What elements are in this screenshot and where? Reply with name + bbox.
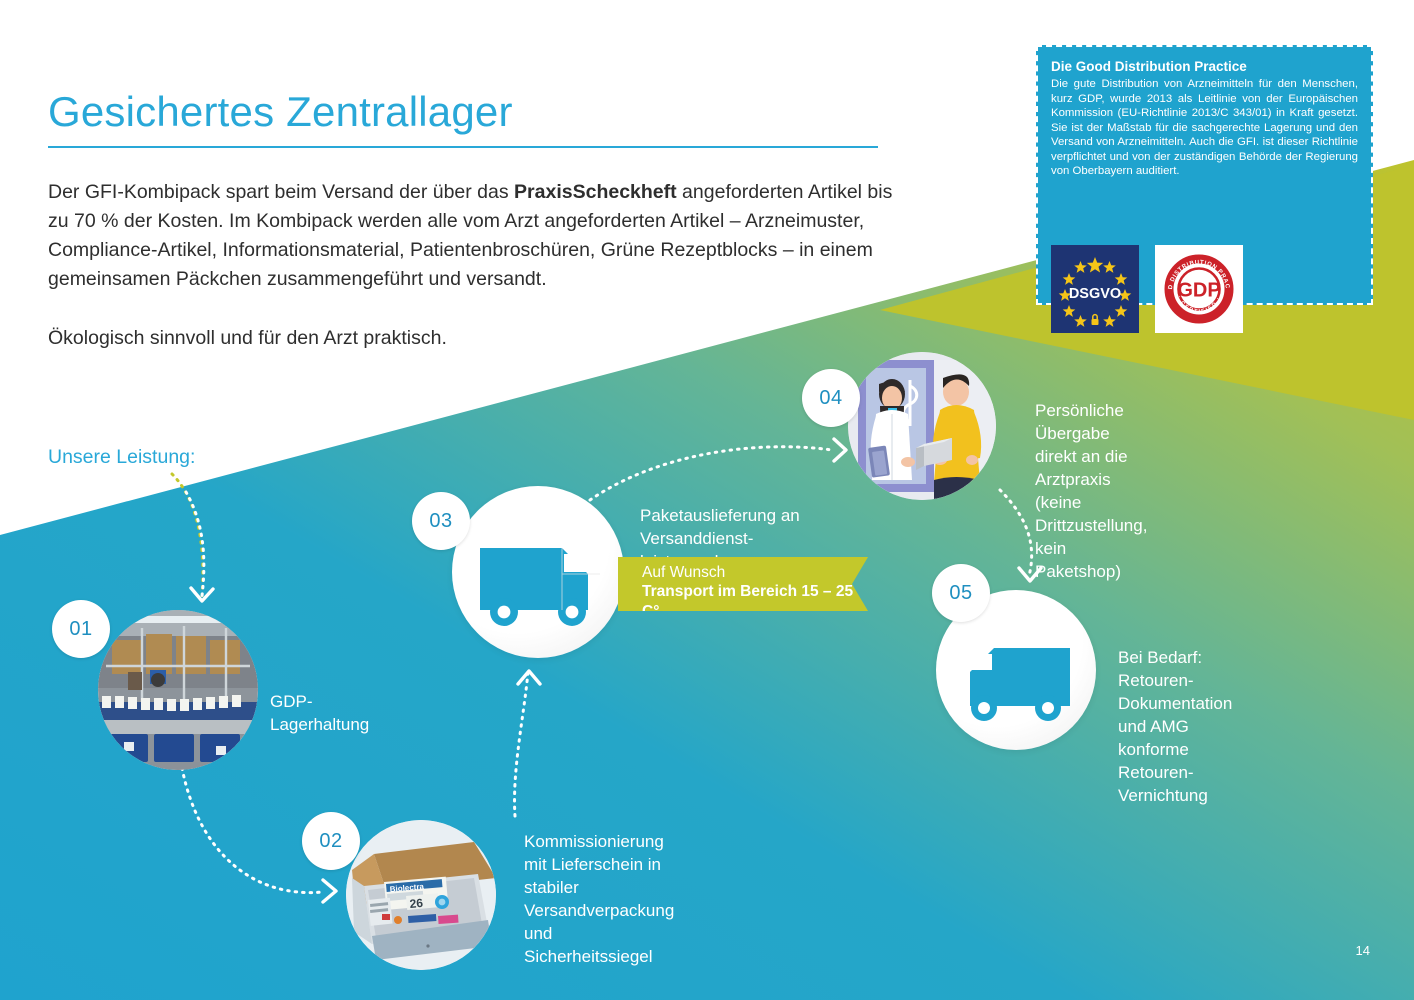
step-caption-05: Bei Bedarf: Retouren-Dokumentation und A… bbox=[1118, 646, 1232, 807]
gdp-box-heading: Die Good Distribution Practice bbox=[1051, 59, 1358, 74]
title-divider bbox=[48, 146, 878, 148]
page-title: Gesichertes Zentrallager bbox=[48, 88, 513, 136]
delivery-truck-icon bbox=[452, 486, 624, 658]
intro-p1-a: Der GFI-Kombipack spart beim Versand der… bbox=[48, 181, 514, 203]
banner-line-1: Auf Wunsch bbox=[642, 563, 868, 582]
step-badge-04: 04 bbox=[802, 369, 860, 427]
gdp-info-box: Die Good Distribution Practice Die gute … bbox=[1036, 45, 1373, 305]
step-badge-02: 02 bbox=[302, 812, 360, 870]
step-caption-04: Persönliche Übergabe direkt an die Arztp… bbox=[1035, 399, 1147, 583]
intro-copy: Der GFI-Kombipack spart beim Versand der… bbox=[48, 178, 908, 353]
lock-icon bbox=[1092, 315, 1099, 325]
gdp-label: GDP bbox=[1177, 280, 1220, 302]
intro-paragraph-1: Der GFI-Kombipack spart beim Versand der… bbox=[48, 178, 908, 294]
certification-logos: DSGVO GOOD DISTRIBUTION PR bbox=[1051, 245, 1243, 333]
step-badge-03: 03 bbox=[412, 492, 470, 550]
page-number: 14 bbox=[1356, 943, 1370, 958]
intro-paragraph-2: Ökologisch sinnvoll und für den Arzt pra… bbox=[48, 324, 908, 353]
step-badge-05: 05 bbox=[932, 564, 990, 622]
dsgvo-label: DSGVO bbox=[1069, 286, 1121, 302]
gdp-certified-logo: GOOD DISTRIBUTION PRACTICE · CERTIFIED ·… bbox=[1155, 245, 1243, 333]
gdp-box-text: Die gute Distribution von Arzneimitteln … bbox=[1051, 77, 1358, 179]
praxisscheckheft-emphasis: PraxisScheckheft bbox=[514, 181, 677, 203]
delivery-truck-circle bbox=[452, 486, 624, 658]
step-badge-01: 01 bbox=[52, 600, 110, 658]
step-caption-01: GDP-Lagerhaltung bbox=[270, 690, 369, 736]
warehouse-photo bbox=[98, 610, 258, 770]
step-caption-02: Kommissionierung mit Lieferschein in sta… bbox=[524, 830, 674, 968]
temperature-banner: Auf Wunsch Transport im Bereich 15 – 25 … bbox=[618, 557, 868, 611]
dsgvo-logo: DSGVO bbox=[1051, 245, 1139, 333]
handover-illustration bbox=[848, 352, 996, 500]
box-number-label: 26 bbox=[409, 896, 424, 911]
services-label: Unsere Leistung: bbox=[48, 446, 195, 469]
shipping-box-photo: Biolectra 26 bbox=[346, 820, 496, 970]
slide-canvas: Gesichertes Zentrallager Der GFI-Kombipa… bbox=[0, 0, 1414, 1000]
